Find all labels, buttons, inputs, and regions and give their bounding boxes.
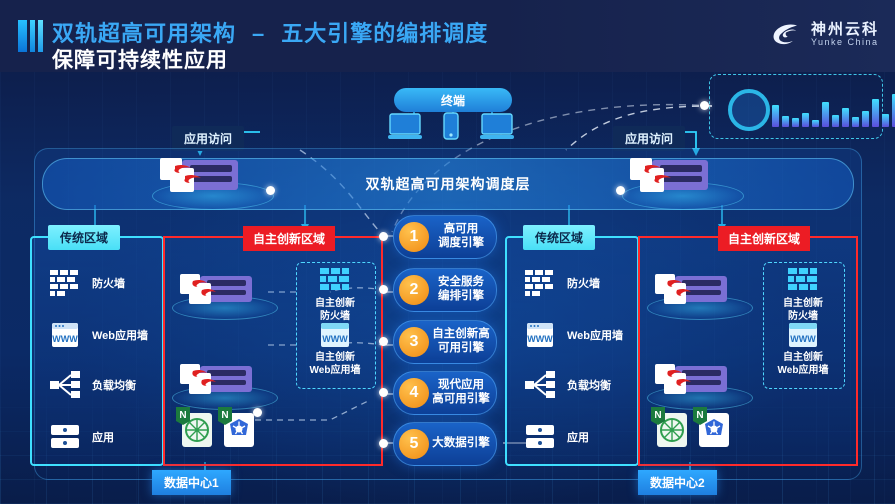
bigdata-connector-dot: [700, 101, 709, 110]
brick-firewall-icon: [318, 268, 352, 296]
swirl-logo-icon: [769, 18, 803, 52]
page-header: 双轨超高可用架构–五大引擎的编排调度 保障可持续性应用 神州云科 Yunke C…: [0, 0, 895, 72]
engine-number: 2: [399, 275, 429, 305]
appliance-icon-dc1-a: [180, 272, 280, 312]
inno-inner-caption-1-dc2: 自主创新 防火墙: [763, 298, 843, 323]
scheduling-layer-label: 双轨超高可用架构调度层: [366, 174, 531, 194]
bar-12: [882, 114, 889, 127]
engine-label: 高可用调度引擎: [429, 223, 496, 251]
appliance-icon-dc2-a: [655, 272, 755, 312]
service-firewall-dc2: 防火墙: [523, 268, 600, 298]
bar-2: [782, 116, 789, 127]
accent-bar-1: [18, 20, 27, 52]
page-title-main: 双轨超高可用架构: [52, 21, 236, 46]
caption-line-1: 自主创新: [763, 352, 843, 365]
engine-item-4[interactable]: 4现代应用高可用引擎: [393, 371, 497, 415]
service-webwall-dc1: WWW Web应用墙: [48, 320, 148, 350]
terminal-label-text: 终端: [441, 92, 465, 109]
service-webwall-dc2: WWW Web应用墙: [523, 320, 623, 350]
bar-11: [872, 99, 879, 127]
appliance-dot-left: [266, 186, 275, 195]
service-name: 应用: [92, 429, 114, 445]
service-application-dc2: 应用: [523, 422, 589, 452]
engine-label-line-2: 高可用引擎: [429, 393, 493, 407]
traditional-zone-label-dc2: 传统区域: [523, 225, 595, 250]
app-badges-dc2: N N: [651, 405, 735, 453]
innovation-zone-label-dc1: 自主创新区域: [243, 226, 335, 251]
traditional-zone-label-dc1: 传统区域: [48, 225, 120, 250]
brick-firewall-icon: [48, 268, 82, 298]
engine-item-5[interactable]: 5大数据引擎: [393, 422, 497, 466]
appliance-icon-dc2-b: [655, 362, 755, 402]
svg-text:WWW: WWW: [52, 334, 78, 344]
inno-inner-caption-2-dc1: 自主创新 Web应用墙: [296, 352, 374, 377]
caption-line-1: 自主创新: [296, 352, 374, 365]
page-subtitle: 保障可持续性应用: [52, 44, 228, 74]
bar-3: [792, 118, 799, 127]
brand-text: 神州云科 Yunke China: [811, 22, 879, 47]
service-name: 防火墙: [567, 275, 600, 291]
server-stack-icon: [48, 422, 82, 452]
engine-label-line-2: 编排引擎: [429, 290, 493, 304]
engine-connector-dot: [379, 388, 388, 397]
bar-10: [862, 111, 869, 127]
engine-label-line-1: 安全服务: [429, 276, 493, 290]
laptop-icon: [480, 114, 514, 139]
engine-label-line-2: 可用引擎: [429, 342, 493, 356]
bar-4: [802, 113, 809, 127]
engine-connector-dot: [379, 337, 388, 346]
accent-bar-2: [30, 20, 35, 52]
engine-label: 大数据引擎: [429, 437, 496, 451]
engine-item-3[interactable]: 3自主创新高可用引擎: [393, 320, 497, 364]
service-name: Web应用墙: [92, 327, 148, 343]
svg-text:N: N: [179, 410, 186, 421]
inno-inner-caption-1-dc1: 自主创新 防火墙: [296, 298, 374, 323]
brand-name-en: Yunke China: [811, 38, 879, 47]
accent-bar-3: [38, 20, 43, 52]
caption-line-2: Web应用墙: [296, 365, 374, 378]
engine-label: 现代应用高可用引擎: [429, 379, 496, 407]
brand-logo: 神州云科 Yunke China: [769, 18, 879, 52]
svg-text:N: N: [654, 410, 661, 421]
engine-number: 5: [399, 429, 429, 459]
bar-chart-icon: [772, 87, 895, 127]
engine-item-1[interactable]: 1高可用调度引擎: [393, 215, 497, 259]
engine-label-line-1: 大数据引擎: [429, 437, 493, 451]
svg-text:WWW: WWW: [527, 334, 553, 344]
appliance-icon-dc1-b: [180, 362, 280, 402]
service-application-dc1: 应用: [48, 422, 114, 452]
bar-6: [822, 102, 829, 127]
brick-firewall-icon: [786, 268, 820, 296]
donut-chart-icon: [728, 89, 770, 131]
bar-8: [842, 108, 849, 127]
header-accent-bars: [18, 20, 43, 52]
terminal-devices: [388, 112, 520, 144]
brand-name-cn: 神州云科: [811, 22, 879, 38]
service-name: 负载均衡: [92, 377, 136, 393]
load-balancer-icon: [48, 370, 82, 400]
server-stack-icon: [523, 422, 557, 452]
web-window-icon: WWW: [48, 320, 82, 350]
svg-text:N: N: [696, 410, 703, 421]
caption-line-1: 自主创新: [763, 298, 843, 311]
appliance-icon-right: [630, 156, 740, 200]
innovation-zone-label-dc2: 自主创新区域: [718, 226, 810, 251]
caption-line-1: 自主创新: [296, 298, 374, 311]
smartphone-icon: [444, 113, 458, 139]
bar-7: [832, 115, 839, 127]
engine-connector-dot: [379, 439, 388, 448]
service-loadbalance-dc2: 负载均衡: [523, 370, 611, 400]
engine-number: 3: [399, 327, 429, 357]
caption-line-2: Web应用墙: [763, 365, 843, 378]
load-balancer-icon: [523, 370, 557, 400]
bar-9: [852, 117, 859, 127]
engine-connector-dot: [379, 232, 388, 241]
diagram-canvas: 双轨超高可用架构–五大引擎的编排调度 保障可持续性应用 神州云科 Yunke C…: [0, 0, 895, 504]
title-dash: –: [236, 21, 281, 46]
engine-label-line-1: 自主创新高: [429, 328, 493, 342]
engine-connector-dot: [379, 285, 388, 294]
bar-5: [812, 120, 819, 127]
appliance-dot-right: [616, 186, 625, 195]
engine-label-line-2: 调度引擎: [429, 237, 493, 251]
datacenter-label-2: 数据中心2: [638, 470, 717, 495]
laptop-icon: [388, 114, 422, 139]
web-window-icon: WWW: [788, 322, 818, 348]
engine-number: 4: [399, 378, 429, 408]
app-badges-dc1: N N: [176, 405, 260, 453]
app-badge-dot-dc1: [253, 408, 262, 417]
bar-1: [772, 105, 779, 127]
terminal-label: 终端: [394, 88, 512, 112]
engine-number: 1: [399, 222, 429, 252]
engine-item-2[interactable]: 2安全服务编排引擎: [393, 268, 497, 312]
bigdata-widget: [709, 74, 883, 139]
service-loadbalance-dc1: 负载均衡: [48, 370, 136, 400]
page-title-sub: 五大引擎的编排调度: [281, 21, 488, 46]
service-firewall-dc1: 防火墙: [48, 268, 125, 298]
svg-text:N: N: [221, 410, 228, 421]
datacenter-label-1: 数据中心1: [152, 470, 231, 495]
inno-inner-caption-2-dc2: 自主创新 Web应用墙: [763, 352, 843, 377]
service-name: Web应用墙: [567, 327, 623, 343]
web-window-icon: WWW: [523, 320, 557, 350]
engine-label: 安全服务编排引擎: [429, 276, 496, 304]
web-window-icon: WWW: [320, 322, 350, 348]
engine-label-line-1: 现代应用: [429, 379, 493, 393]
service-name: 应用: [567, 429, 589, 445]
service-name: 负载均衡: [567, 377, 611, 393]
service-name: 防火墙: [92, 275, 125, 291]
engine-label-line-1: 高可用: [429, 223, 493, 237]
svg-text:WWW: WWW: [790, 334, 816, 344]
svg-text:WWW: WWW: [322, 334, 348, 344]
engine-label: 自主创新高可用引擎: [429, 328, 496, 356]
appliance-icon-left: [160, 156, 270, 200]
brick-firewall-icon: [523, 268, 557, 298]
